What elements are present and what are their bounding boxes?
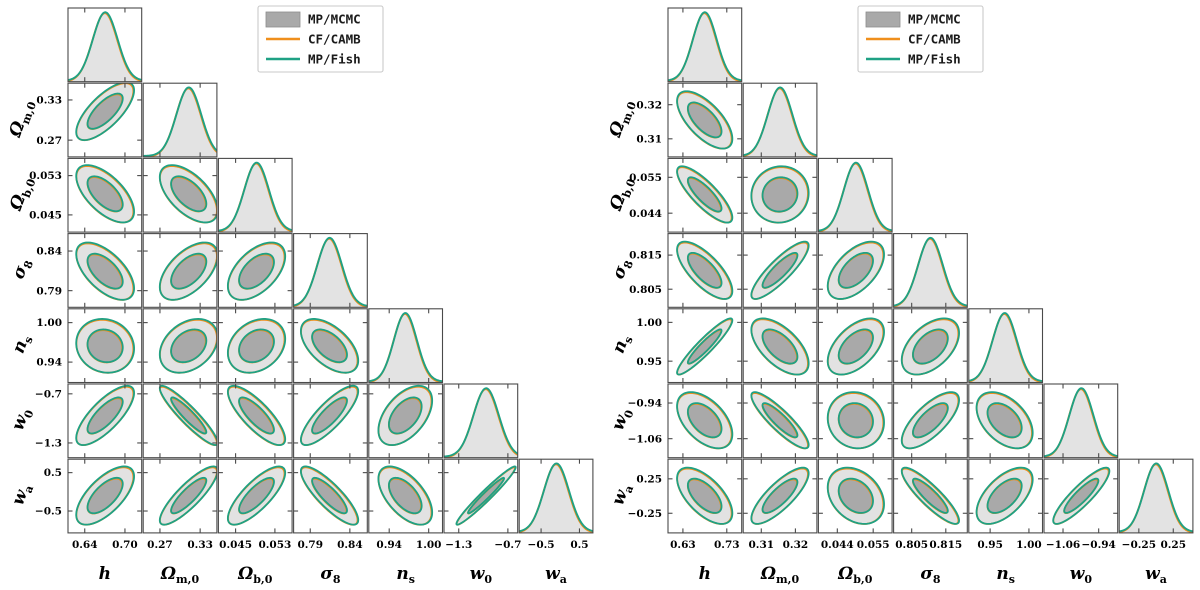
contour-panel-Ob0-vs-w0 [218,384,292,458]
corner-plot-left: 0.270.33Ωm,00.0450.053Ωb,00.790.84σ80.94… [0,0,600,590]
diagonal-panel-ns [369,309,443,383]
legend: MP/MCMCCF/CAMBMP/Fish [258,6,383,72]
diagonal-panel-s8 [894,234,968,308]
x-tick-label: 0.055 [857,539,890,551]
y-tick-label: 0.33 [36,95,62,107]
contour-panel-Om0-vs-w0 [743,384,817,458]
x-axis-title: ns [996,564,1015,586]
legend-swatch-0 [866,12,900,27]
x-tick-label: 0.79 [297,539,323,551]
x-tick-label: 0.27 [147,539,173,551]
y-tick-label: 0.32 [636,99,662,111]
x-axis-title: Ωb,0 [237,564,273,586]
y-tick-label: 0.95 [636,356,662,368]
x-tick-label: 1.00 [1016,539,1042,551]
contour-panel-w0-vs-wa [1044,459,1118,533]
diagonal-panel-h [68,8,142,82]
contour-panel-Om0-vs-s8 [143,234,217,308]
corner-plot-svg: 0.270.33Ωm,00.0450.053Ωb,00.790.84σ80.94… [0,0,600,590]
y-tick-label: −0.7 [35,388,62,400]
x-tick-label: 0.95 [977,539,1003,551]
x-tick-label: 0.805 [895,539,928,551]
x-tick-label: −1.3 [445,539,472,551]
y-tick-label: −0.5 [35,506,62,518]
x-tick-label: 0.045 [219,539,252,551]
corner-plot-svg: 0.310.32Ωm,00.0440.055Ωb,00.8050.815σ80.… [600,0,1200,590]
legend-label-2: MP/Fish [308,52,361,67]
y-tick-label: 0.25 [636,473,662,485]
y-tick-label: 0.044 [629,208,662,220]
diagonal-panel-w0 [444,384,518,458]
contour-panel-Om0-vs-ns [143,309,217,383]
contour-panel-Om0-vs-w0 [143,384,217,458]
y-tick-label: 0.79 [36,285,62,297]
contour-panel-Om0-vs-Ob0 [743,158,817,232]
x-tick-label: 0.25 [1160,539,1186,551]
corner-plot-figure: 0.270.33Ωm,00.0450.053Ωb,00.790.84σ80.94… [0,0,1200,590]
marginal-fill-mcmc [1044,389,1118,458]
contour-panel-h-vs-Ob0 [668,158,742,232]
x-tick-label: 0.73 [714,539,740,551]
contour-panel-Ob0-vs-s8 [218,234,292,308]
x-axis-title: wa [545,564,567,586]
x-tick-label: −1.06 [1046,539,1080,551]
contour-panel-Ob0-vs-ns [818,309,892,383]
contour-panel-Om0-vs-ns [743,309,817,383]
y-axis-title: w0 [8,405,36,434]
legend-label-1: CF/CAMB [308,32,361,47]
contour-panel-Om0-vs-wa [743,459,817,533]
legend-label-0: MP/MCMC [308,12,361,27]
contour-panel-Ob0-vs-wa [818,459,892,533]
diagonal-panel-wa [1119,459,1193,533]
contour-panel-h-vs-w0 [68,384,142,458]
corner-plot-right: 0.310.32Ωm,00.0440.055Ωb,00.8050.815σ80.… [600,0,1200,590]
x-axis-title: h [99,564,111,584]
diagonal-panel-Ob0 [818,158,892,232]
contour-panel-h-vs-Ob0 [68,158,142,232]
x-axis-title: h [699,564,711,584]
contour-panel-Om0-vs-Ob0 [143,158,217,232]
contour-panel-Ob0-vs-ns [218,309,292,383]
x-tick-label: 0.5 [570,539,588,551]
marginal-fill-mcmc [143,88,217,157]
y-tick-label: 0.5 [44,467,62,479]
x-tick-label: 0.815 [929,539,962,551]
contour-panel-s8-vs-w0 [294,384,368,458]
contour-panel-h-vs-w0 [668,384,742,458]
contour-1sigma-fill-mcmc [468,479,504,514]
diagonal-panel-Om0 [743,83,817,157]
x-tick-label: 0.31 [748,539,774,551]
marginal-fill-mcmc [894,239,968,308]
y-axis-title: ns [609,332,636,357]
legend-label-2: MP/Fish [908,52,961,67]
diagonal-panel-w0 [1044,384,1118,458]
y-tick-label: 0.31 [636,133,662,145]
y-tick-label: 1.00 [36,317,62,329]
y-tick-label: 0.27 [36,135,62,147]
x-tick-label: 0.94 [376,539,402,551]
marginal-fill-mcmc [369,314,443,383]
contour-panel-w0-vs-wa [444,459,518,533]
y-tick-label: −0.25 [628,508,662,520]
contour-panel-Ob0-vs-wa [218,459,292,533]
diagonal-panel-Om0 [143,83,217,157]
y-tick-label: −1.3 [35,438,62,450]
x-axis-title: σ8 [920,564,941,586]
legend: MP/MCMCCF/CAMBMP/Fish [858,6,983,72]
y-tick-label: 0.045 [29,210,62,222]
x-tick-label: −0.5 [528,539,555,551]
x-axis-title: Ωm,0 [760,564,800,586]
contour-panel-ns-vs-wa [969,459,1043,533]
x-tick-label: 0.63 [670,539,696,551]
x-axis-title: Ωm,0 [160,564,200,586]
contour-panel-s8-vs-wa [294,459,368,533]
contour-panel-Om0-vs-wa [143,459,217,533]
contour-panel-ns-vs-w0 [969,384,1043,458]
diagonal-panel-ns [969,309,1043,383]
y-axis-title: Ωm,0 [605,97,639,142]
x-axis-title: σ8 [320,564,341,586]
contour-panel-s8-vs-ns [894,309,968,383]
diagonal-panel-wa [519,459,593,533]
contour-panel-s8-vs-w0 [894,384,968,458]
contour-panel-Ob0-vs-w0 [818,384,892,458]
marginal-fill-mcmc [1119,464,1193,533]
x-tick-label: 0.33 [187,539,213,551]
y-tick-label: −1.06 [628,433,662,445]
y-tick-label: 1.00 [636,317,662,329]
y-tick-label: −0.94 [628,398,662,410]
y-axis-title: wa [8,481,36,509]
y-axis-title: σ8 [8,256,36,283]
contour-panel-Ob0-vs-s8 [818,234,892,308]
x-tick-label: −0.25 [1122,539,1156,551]
y-tick-label: 0.805 [629,284,662,296]
contour-panel-h-vs-s8 [68,234,142,308]
marginal-fill-mcmc [743,88,817,157]
contour-panel-h-vs-wa [68,459,142,533]
marginal-fill-mcmc [444,389,518,458]
y-axis-title: Ωm,0 [5,97,39,142]
contour-panel-Om0-vs-s8 [743,234,817,308]
contour-panel-s8-vs-ns [294,309,368,383]
x-tick-label: −0.94 [1081,539,1115,551]
x-axis-title: wa [1145,564,1167,586]
x-axis-title: Ωb,0 [837,564,873,586]
x-tick-label: 0.044 [821,539,854,551]
x-axis-title: w0 [1070,564,1093,586]
contour-panel-h-vs-s8 [668,234,742,308]
y-axis-title: wa [608,481,636,509]
x-tick-label: 0.70 [112,539,138,551]
x-axis-title: ns [396,564,415,586]
contour-panel-ns-vs-w0 [369,384,443,458]
x-tick-label: 1.00 [416,539,442,551]
x-tick-label: 0.84 [337,539,363,551]
x-tick-label: 0.32 [783,539,809,551]
contour-panel-h-vs-wa [668,459,742,533]
diagonal-panel-s8 [294,234,368,308]
contour-panel-h-vs-Om0 [68,82,142,157]
contour-panel-h-vs-Om0 [668,83,742,157]
contour-panel-h-vs-ns [68,309,142,383]
legend-label-0: MP/MCMC [908,12,961,27]
diagonal-panel-Ob0 [218,158,292,232]
legend-swatch-0 [266,12,300,27]
x-tick-label: 0.64 [72,539,98,551]
marginal-fill-mcmc [668,13,742,82]
contour-panel-h-vs-ns [668,309,742,383]
y-axis-title: ns [9,332,36,357]
contour-panel-s8-vs-wa [894,459,968,533]
x-axis-title: w0 [470,564,493,586]
x-tick-label: −0.7 [494,539,521,551]
x-tick-label: 0.053 [258,539,291,551]
contour-1sigma-fill-mcmc [688,330,721,364]
contour-panel-ns-vs-wa [369,459,443,533]
y-tick-label: 0.84 [36,246,62,258]
y-tick-label: 0.815 [629,250,662,262]
legend-label-1: CF/CAMB [908,32,961,47]
diagonal-panel-h [668,8,742,82]
y-tick-label: 0.94 [36,357,62,369]
